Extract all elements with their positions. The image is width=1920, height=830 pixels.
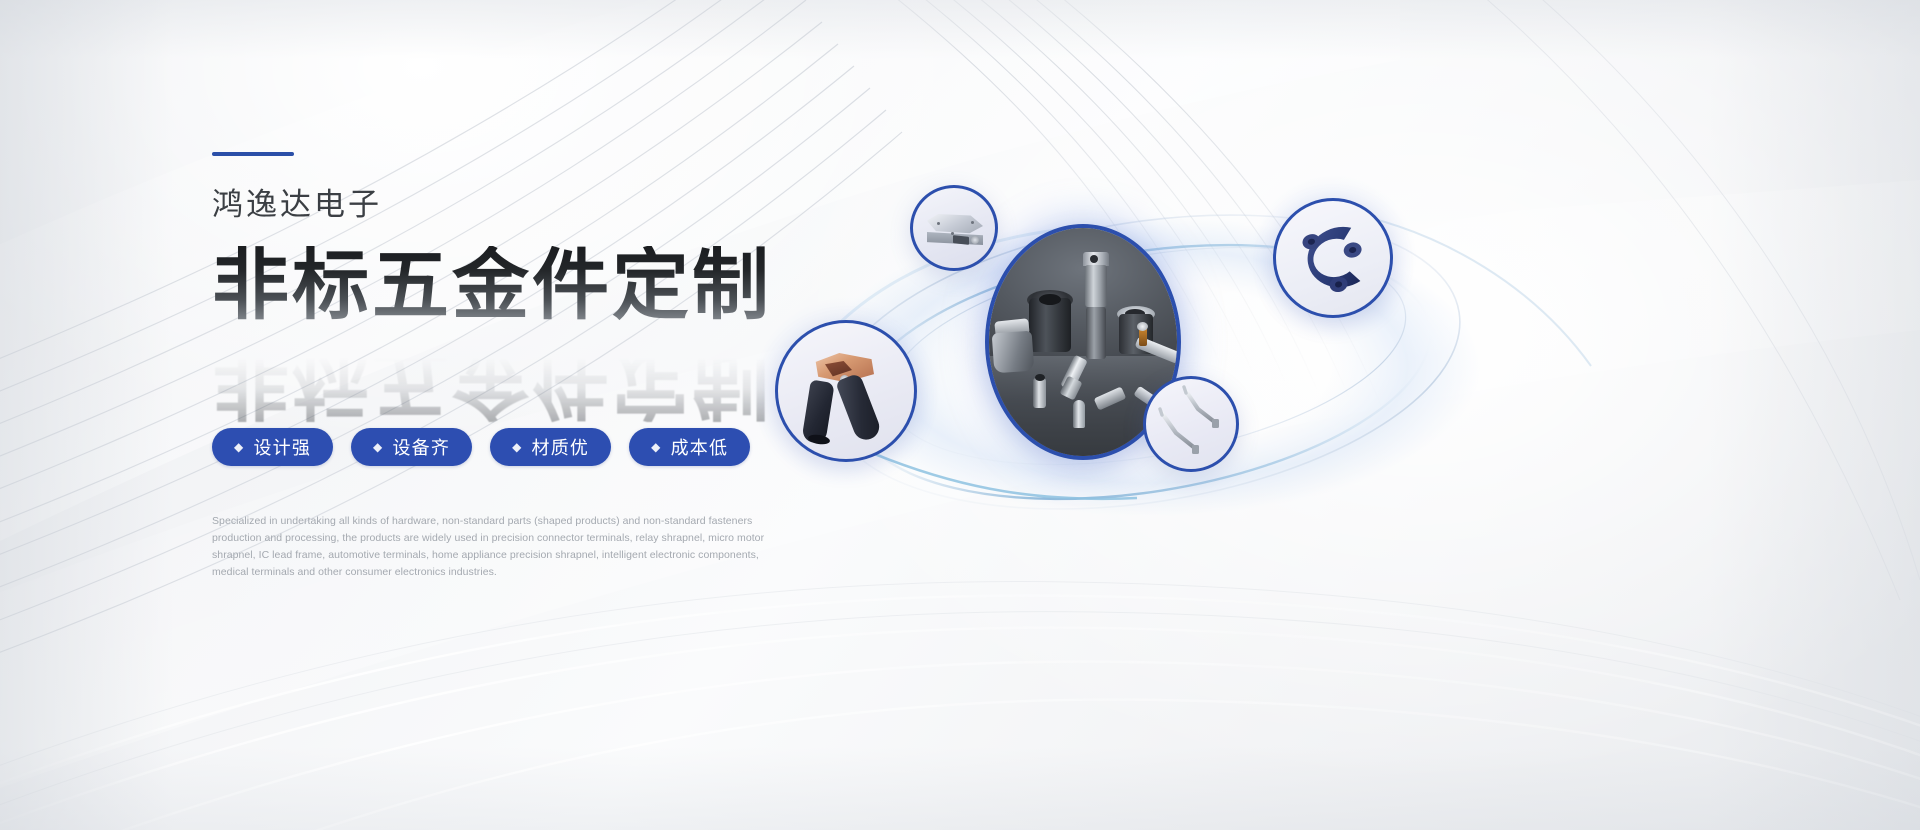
- diamond-icon: ◆: [651, 441, 661, 453]
- feature-badge-design[interactable]: ◆ 设计强: [212, 428, 333, 466]
- satellite-photo-copper-clamp[interactable]: [775, 320, 917, 462]
- feature-badge-label: 成本低: [671, 434, 729, 460]
- accent-rule: [212, 152, 294, 156]
- hero-banner: 鸿逸达电子 非标五金件定制 非标五金件定制 ◆ 设计强 ◆ 设备齐 ◆ 材质优 …: [0, 0, 1920, 830]
- bent-pins-shape: [1146, 379, 1236, 469]
- feature-badge-cost[interactable]: ◆ 成本低: [629, 428, 750, 466]
- product-visual: [745, 120, 1625, 620]
- diamond-icon: ◆: [512, 441, 522, 453]
- satellite-photo-bent-pins[interactable]: [1143, 376, 1239, 472]
- feature-badge-label: 设备齐: [392, 434, 450, 460]
- satellite-photo-retaining-ring[interactable]: [1273, 198, 1393, 318]
- feature-badge-label: 材质优: [532, 434, 590, 460]
- feature-badge-label: 设计强: [253, 434, 311, 460]
- feature-badge-equipment[interactable]: ◆ 设备齐: [351, 428, 472, 466]
- headline-reflection: 非标五金件定制: [212, 342, 772, 422]
- diamond-icon: ◆: [373, 441, 383, 453]
- feature-badge-material[interactable]: ◆ 材质优: [490, 428, 611, 466]
- satellite-photo-metal-enclosure[interactable]: [910, 185, 998, 271]
- diamond-icon: ◆: [234, 441, 244, 453]
- description-paragraph: Specialized in undertaking all kinds of …: [212, 513, 777, 581]
- retaining-ring-shape: [1276, 201, 1390, 315]
